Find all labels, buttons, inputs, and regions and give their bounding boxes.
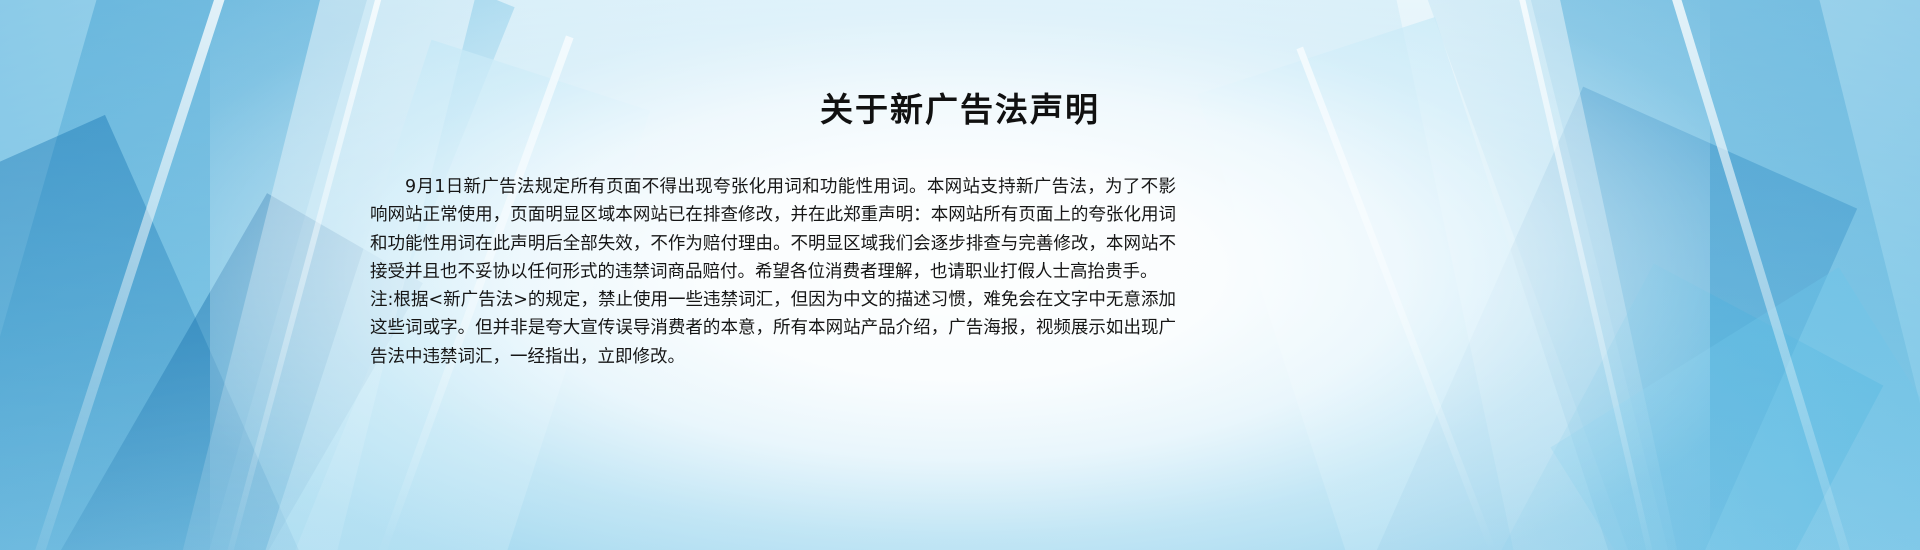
statement-content: 关于新广告法声明 9月1日新广告法规定所有页面不得出现夸张化用词和功能性用词。本…: [0, 0, 1920, 550]
statement-body: 9月1日新广告法规定所有页面不得出现夸张化用词和功能性用词。本网站支持新广告法，…: [370, 173, 1176, 371]
statement-paragraph-main: 9月1日新广告法规定所有页面不得出现夸张化用词和功能性用词。本网站支持新广告法，…: [370, 173, 1176, 286]
page-title: 关于新广告法声明: [0, 88, 1920, 132]
statement-paragraph-note: 注:根据<新广告法>的规定，禁止使用一些违禁词汇，但因为中文的描述习惯，难免会在…: [370, 286, 1176, 371]
advertising-law-statement-banner: 关于新广告法声明 9月1日新广告法规定所有页面不得出现夸张化用词和功能性用词。本…: [0, 0, 1920, 550]
